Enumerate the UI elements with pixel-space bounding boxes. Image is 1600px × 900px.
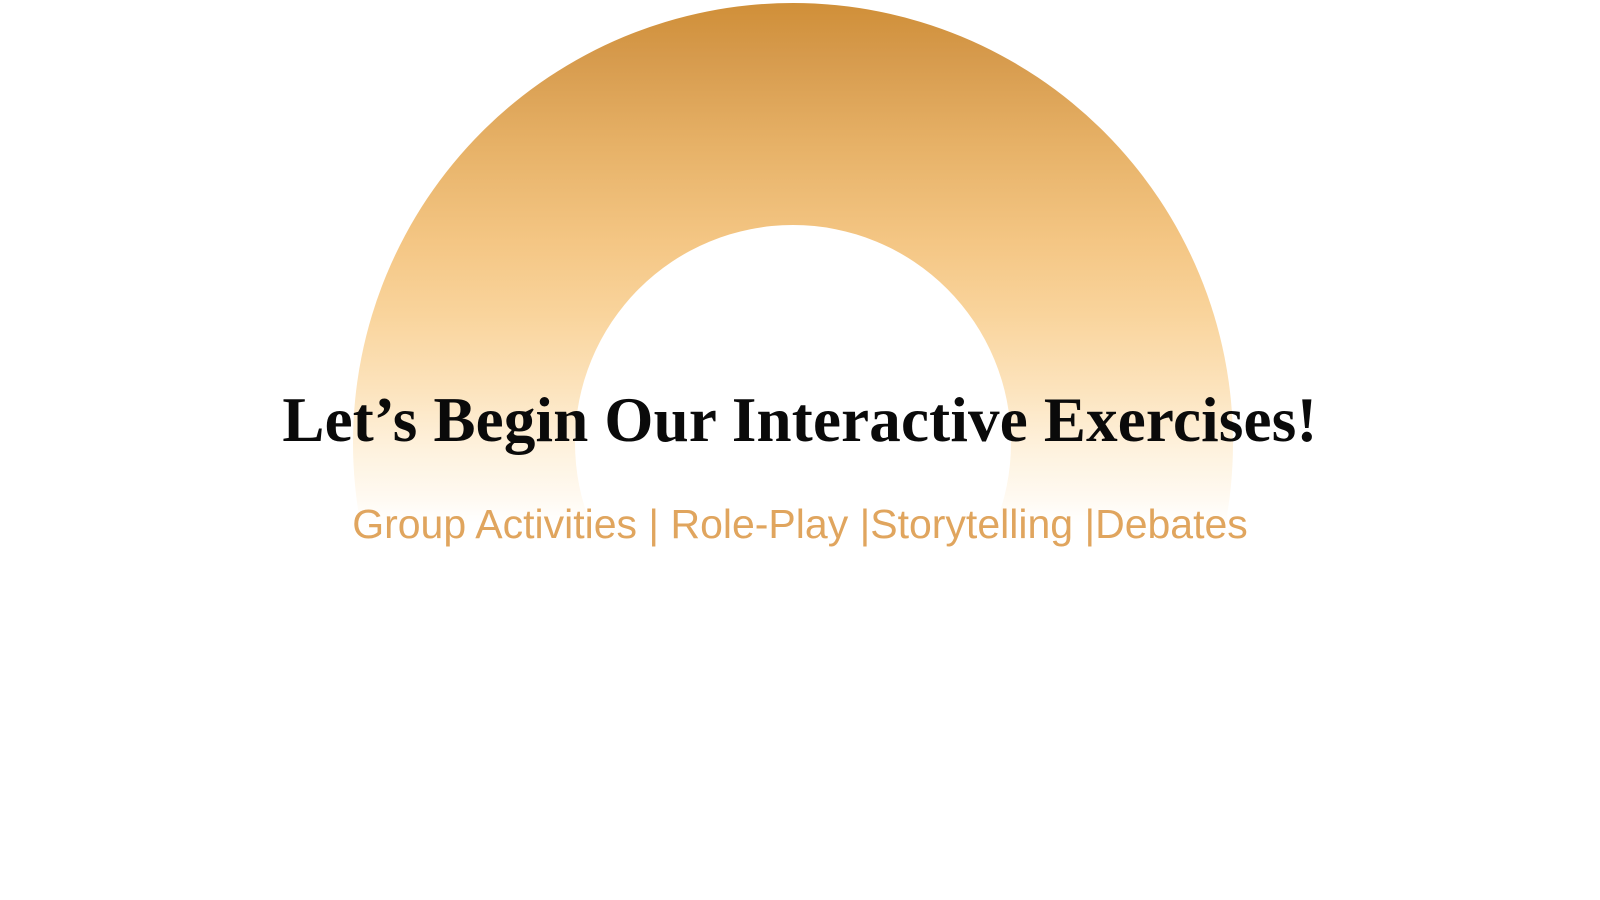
page-subtitle: Group Activities | Role-Play |Storytelli… — [0, 500, 1600, 549]
headline-block: Let’s Begin Our Interactive Exercises! G… — [0, 0, 1600, 900]
page-title: Let’s Begin Our Interactive Exercises! — [0, 386, 1600, 455]
slide-canvas: Let’s Begin Our Interactive Exercises! G… — [0, 0, 1600, 900]
